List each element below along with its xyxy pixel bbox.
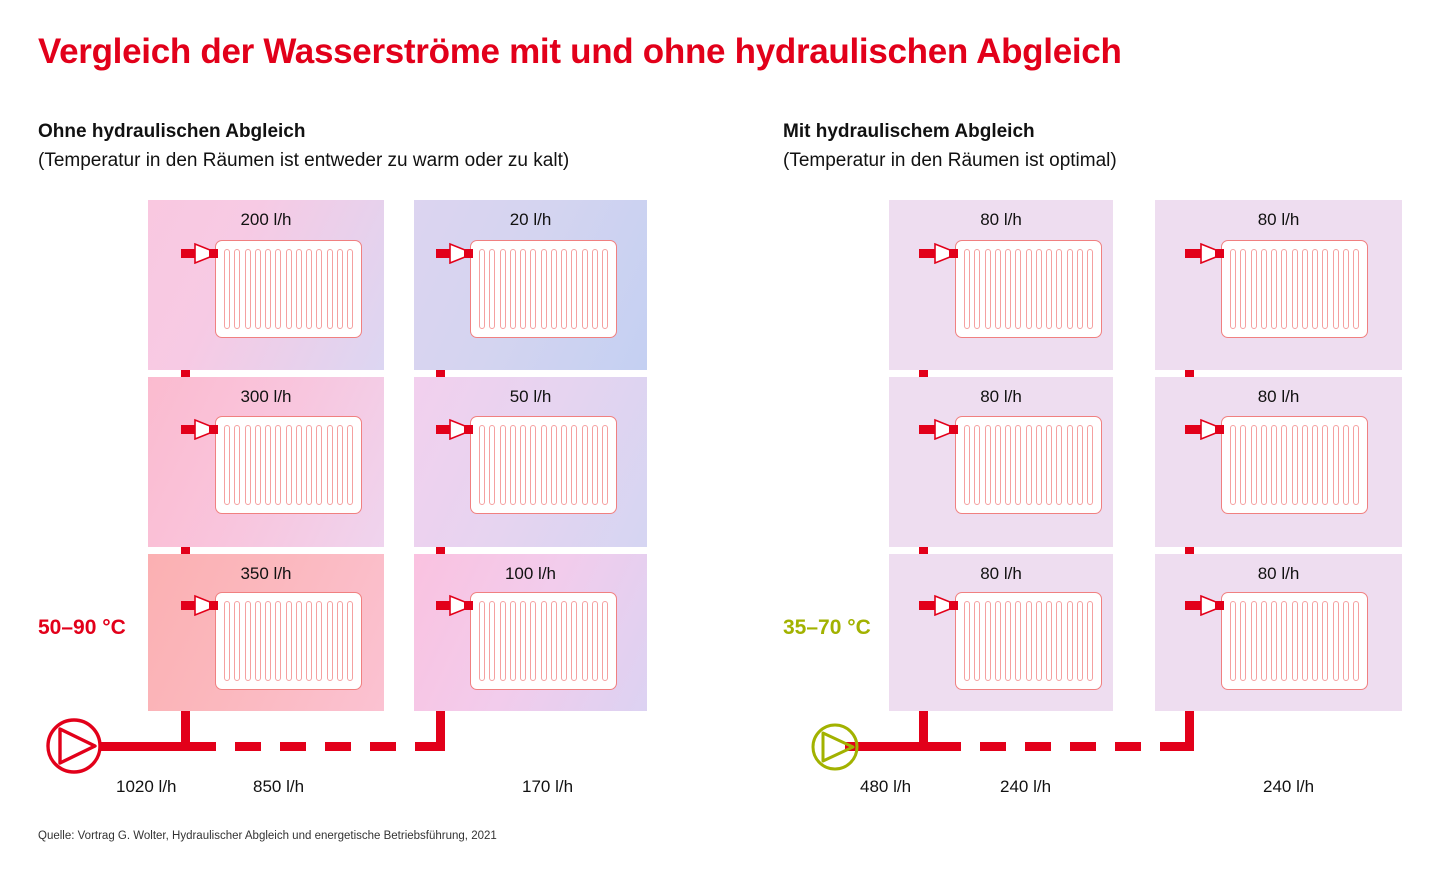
flow-label: 80 l/h xyxy=(889,210,1113,230)
radiator-fin xyxy=(500,425,506,505)
radiator-fin xyxy=(245,249,251,329)
radiator-fin xyxy=(985,249,991,329)
radiator-fin xyxy=(224,249,230,329)
radiator-fin xyxy=(316,601,322,681)
radiator-fin xyxy=(1281,601,1287,681)
thermostatic-valve-icon[interactable] xyxy=(933,594,963,616)
pump-ohne[interactable] xyxy=(45,716,105,776)
radiator-fin xyxy=(530,249,536,329)
radiator-fin xyxy=(1343,249,1349,329)
radiator-fin xyxy=(1046,249,1052,329)
radiator-fin xyxy=(347,249,353,329)
radiator-fin xyxy=(479,249,485,329)
radiator-fin xyxy=(255,249,261,329)
supply-pipe-ohne xyxy=(100,742,190,751)
radiator-mit-r0-c1 xyxy=(1221,240,1368,338)
radiator-fin xyxy=(1302,249,1308,329)
thermostatic-valve-icon[interactable] xyxy=(448,418,478,440)
radiator-fin xyxy=(286,425,292,505)
radiator-fin xyxy=(1271,425,1277,505)
radiator-fin xyxy=(337,425,343,505)
radiator-fin xyxy=(985,601,991,681)
radiator-fins xyxy=(479,425,608,505)
thermostatic-valve-icon[interactable] xyxy=(193,242,223,264)
radiator-fin xyxy=(275,601,281,681)
radiator-fin xyxy=(1056,425,1062,505)
infographic-canvas: Vergleich der Wasserströme mit und ohne … xyxy=(0,0,1440,869)
radiator-fin xyxy=(541,601,547,681)
radiator-fin xyxy=(224,425,230,505)
radiator-fin xyxy=(1015,249,1021,329)
radiator-fin xyxy=(327,601,333,681)
radiator-fin xyxy=(1015,425,1021,505)
radiator-fin xyxy=(1230,249,1236,329)
distribution-pipe-ohne xyxy=(190,742,440,751)
radiator-ohne-r1-c1 xyxy=(470,416,617,514)
radiator-fin xyxy=(995,249,1001,329)
radiator-fin xyxy=(1087,249,1093,329)
flow-label-riser-ohne-1: 850 l/h xyxy=(253,777,304,797)
radiator-fin xyxy=(1005,425,1011,505)
radiator-fin xyxy=(592,601,598,681)
radiator-fin xyxy=(1067,601,1073,681)
radiator-fin xyxy=(602,425,608,505)
radiator-ohne-r2-c1 xyxy=(470,592,617,690)
radiator-ohne-r2-c0 xyxy=(215,592,362,690)
radiator-fin xyxy=(255,425,261,505)
radiator-fin xyxy=(520,249,526,329)
radiator-fin xyxy=(327,425,333,505)
radiator-fins xyxy=(964,601,1093,681)
radiator-fin xyxy=(265,425,271,505)
radiator-fin xyxy=(1322,425,1328,505)
radiator-fin xyxy=(489,601,495,681)
radiator-fin xyxy=(500,601,506,681)
radiator-fin xyxy=(1077,249,1083,329)
radiator-fin xyxy=(234,249,240,329)
radiator-fin xyxy=(347,425,353,505)
thermostatic-valve-icon[interactable] xyxy=(193,594,223,616)
radiator-fin xyxy=(1240,601,1246,681)
radiator-fin xyxy=(327,249,333,329)
radiator-fin xyxy=(245,425,251,505)
flow-label: 80 l/h xyxy=(1155,210,1402,230)
radiator-fins xyxy=(224,249,353,329)
radiator-fin xyxy=(1046,425,1052,505)
radiator-fin xyxy=(974,601,980,681)
radiator-fin xyxy=(592,249,598,329)
radiator-fin xyxy=(582,601,588,681)
radiator-fin xyxy=(1026,425,1032,505)
radiator-fin xyxy=(286,601,292,681)
thermostatic-valve-icon[interactable] xyxy=(1199,418,1229,440)
radiator-fin xyxy=(561,425,567,505)
flow-label: 300 l/h xyxy=(148,387,384,407)
panel-subheading-ohne: (Temperatur in den Räumen ist entweder z… xyxy=(38,150,569,172)
radiator-fin xyxy=(337,249,343,329)
radiator-fin xyxy=(571,425,577,505)
radiator-fin xyxy=(1261,249,1267,329)
radiator-fin xyxy=(520,425,526,505)
radiator-fins xyxy=(1230,425,1359,505)
radiator-fin xyxy=(571,249,577,329)
radiator-fin xyxy=(1312,249,1318,329)
flow-label: 80 l/h xyxy=(889,387,1113,407)
radiator-fin xyxy=(551,601,557,681)
radiator-fin xyxy=(337,601,343,681)
radiator-fin xyxy=(974,249,980,329)
radiator-fin xyxy=(306,601,312,681)
radiator-fin xyxy=(1077,425,1083,505)
radiator-fin xyxy=(964,425,970,505)
radiator-fin xyxy=(602,601,608,681)
radiator-fin xyxy=(286,249,292,329)
radiator-fin xyxy=(551,249,557,329)
radiator-fin xyxy=(510,249,516,329)
radiator-fin xyxy=(275,249,281,329)
flow-label: 350 l/h xyxy=(148,564,384,584)
radiator-fin xyxy=(1087,425,1093,505)
radiator-fin xyxy=(1087,601,1093,681)
radiator-fin xyxy=(1067,249,1073,329)
radiator-fin xyxy=(510,425,516,505)
radiator-fin xyxy=(985,425,991,505)
radiator-fin xyxy=(1230,601,1236,681)
radiator-fin xyxy=(530,425,536,505)
radiator-fin xyxy=(1292,601,1298,681)
radiator-fin xyxy=(1343,425,1349,505)
radiator-fin xyxy=(255,601,261,681)
radiator-fin xyxy=(530,601,536,681)
radiator-fin xyxy=(1281,425,1287,505)
flow-label: 80 l/h xyxy=(889,564,1113,584)
radiator-fin xyxy=(245,601,251,681)
thermostatic-valve-icon[interactable] xyxy=(933,418,963,440)
radiator-fin xyxy=(296,601,302,681)
radiator-fin xyxy=(995,601,1001,681)
radiator-fins xyxy=(479,249,608,329)
radiator-fin xyxy=(1046,601,1052,681)
source-note: Quelle: Vortrag G. Wolter, Hydraulischer… xyxy=(38,830,497,842)
thermostatic-valve-icon[interactable] xyxy=(448,242,478,264)
radiator-fin xyxy=(1302,601,1308,681)
radiator-fins xyxy=(1230,249,1359,329)
radiator-fin xyxy=(1322,601,1328,681)
radiator-fin xyxy=(1312,601,1318,681)
radiator-fin xyxy=(1230,425,1236,505)
flow-label: 200 l/h xyxy=(148,210,384,230)
thermostatic-valve-icon[interactable] xyxy=(933,242,963,264)
radiator-fin xyxy=(296,425,302,505)
radiator-fins xyxy=(224,601,353,681)
radiator-fin xyxy=(479,425,485,505)
radiator-fin xyxy=(296,249,302,329)
radiator-fin xyxy=(1281,249,1287,329)
radiator-fin xyxy=(1026,249,1032,329)
radiator-fin xyxy=(551,425,557,505)
flow-label: 20 l/h xyxy=(414,210,647,230)
radiator-mit-r2-c1 xyxy=(1221,592,1368,690)
thermostatic-valve-icon[interactable] xyxy=(1199,594,1229,616)
radiator-fin xyxy=(510,601,516,681)
radiator-fin xyxy=(582,425,588,505)
radiator-fin xyxy=(316,425,322,505)
radiator-fin xyxy=(1026,601,1032,681)
flow-label: 80 l/h xyxy=(1155,387,1402,407)
radiator-fin xyxy=(306,425,312,505)
radiator-fin xyxy=(582,249,588,329)
radiator-fin xyxy=(1292,249,1298,329)
radiator-fin xyxy=(1251,601,1257,681)
radiator-fins xyxy=(224,425,353,505)
radiator-fin xyxy=(964,601,970,681)
distribution-pipe-mit xyxy=(935,742,1185,751)
thermostatic-valve-icon[interactable] xyxy=(448,594,478,616)
thermostatic-valve-icon[interactable] xyxy=(193,418,223,440)
flow-label-supply-mit: 480 l/h xyxy=(860,777,911,797)
radiator-fins xyxy=(1230,601,1359,681)
flow-label: 50 l/h xyxy=(414,387,647,407)
panel-subheading-mit: (Temperatur in den Räumen ist optimal) xyxy=(783,150,1117,172)
radiator-fin xyxy=(489,425,495,505)
radiator-fin xyxy=(541,249,547,329)
radiator-fin xyxy=(1036,425,1042,505)
radiator-mit-r1-c0 xyxy=(955,416,1102,514)
radiator-fin xyxy=(1302,425,1308,505)
radiator-fin xyxy=(974,425,980,505)
flow-label-riser-mit-2: 240 l/h xyxy=(1263,777,1314,797)
radiator-fin xyxy=(1036,601,1042,681)
radiator-fin xyxy=(602,249,608,329)
radiator-ohne-r1-c0 xyxy=(215,416,362,514)
radiator-fin xyxy=(995,425,1001,505)
radiator-fin xyxy=(1005,249,1011,329)
flow-label: 100 l/h xyxy=(414,564,647,584)
radiator-fins xyxy=(479,601,608,681)
thermostatic-valve-icon[interactable] xyxy=(1199,242,1229,264)
temperature-label-mit: 35–70 °C xyxy=(783,616,871,640)
radiator-fin xyxy=(571,601,577,681)
radiator-fin xyxy=(347,601,353,681)
panel-heading-ohne: Ohne hydraulischen Abgleich xyxy=(38,121,305,143)
panel-heading-mit: Mit hydraulischem Abgleich xyxy=(783,121,1035,143)
radiator-fin xyxy=(316,249,322,329)
flow-label-supply-ohne: 1020 l/h xyxy=(116,777,177,797)
radiator-mit-r2-c0 xyxy=(955,592,1102,690)
flow-label: 80 l/h xyxy=(1155,564,1402,584)
radiator-fin xyxy=(1333,425,1339,505)
radiator-fin xyxy=(1322,249,1328,329)
radiator-fin xyxy=(1056,249,1062,329)
radiator-fin xyxy=(1036,249,1042,329)
radiator-fin xyxy=(1343,601,1349,681)
pump-mit[interactable] xyxy=(810,721,862,773)
radiator-fin xyxy=(1240,249,1246,329)
radiator-fin xyxy=(1353,249,1359,329)
radiator-fin xyxy=(489,249,495,329)
radiator-fin xyxy=(306,249,312,329)
radiator-fin xyxy=(1333,249,1339,329)
radiator-fin xyxy=(1333,601,1339,681)
radiator-fin xyxy=(1067,425,1073,505)
temperature-label-ohne: 50–90 °C xyxy=(38,616,126,640)
radiator-fin xyxy=(1353,601,1359,681)
radiator-fin xyxy=(1251,249,1257,329)
radiator-mit-r1-c1 xyxy=(1221,416,1368,514)
radiator-fins xyxy=(964,249,1093,329)
radiator-fin xyxy=(561,601,567,681)
radiator-ohne-r0-c0 xyxy=(215,240,362,338)
radiator-fin xyxy=(265,249,271,329)
radiator-fin xyxy=(275,425,281,505)
radiator-mit-r0-c0 xyxy=(955,240,1102,338)
radiator-fin xyxy=(1271,601,1277,681)
radiator-fin xyxy=(1005,601,1011,681)
radiator-fin xyxy=(265,601,271,681)
radiator-fin xyxy=(1251,425,1257,505)
flow-label-riser-mit-1: 240 l/h xyxy=(1000,777,1051,797)
radiator-fins xyxy=(964,425,1093,505)
radiator-fin xyxy=(224,601,230,681)
radiator-fin xyxy=(541,425,547,505)
flow-label-riser-ohne-2: 170 l/h xyxy=(522,777,573,797)
radiator-fin xyxy=(1261,601,1267,681)
radiator-fin xyxy=(479,601,485,681)
radiator-ohne-r0-c1 xyxy=(470,240,617,338)
page-title: Vergleich der Wasserströme mit und ohne … xyxy=(38,32,1122,72)
radiator-fin xyxy=(520,601,526,681)
radiator-fin xyxy=(592,425,598,505)
radiator-fin xyxy=(234,601,240,681)
radiator-fin xyxy=(500,249,506,329)
radiator-fin xyxy=(1056,601,1062,681)
radiator-fin xyxy=(1312,425,1318,505)
radiator-fin xyxy=(964,249,970,329)
radiator-fin xyxy=(1292,425,1298,505)
radiator-fin xyxy=(1015,601,1021,681)
radiator-fin xyxy=(234,425,240,505)
radiator-fin xyxy=(1261,425,1267,505)
radiator-fin xyxy=(1077,601,1083,681)
radiator-fin xyxy=(1353,425,1359,505)
radiator-fin xyxy=(561,249,567,329)
radiator-fin xyxy=(1271,249,1277,329)
radiator-fin xyxy=(1240,425,1246,505)
